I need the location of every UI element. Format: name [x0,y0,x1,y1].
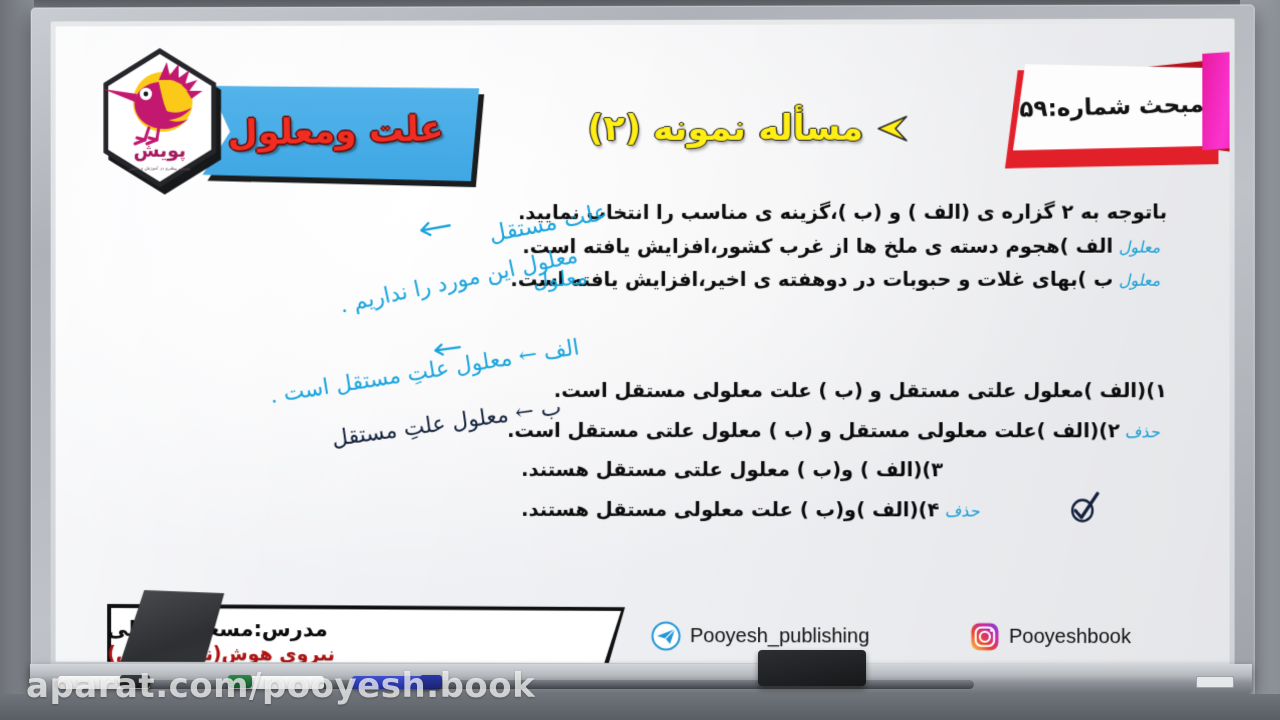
topic-number-ribbon: مبحث شماره:۵۹ [989,46,1230,177]
sample-problem-heading: مسأله نمونه (۲) [588,109,910,150]
logo-tagline: پویش، پیشرو در آموزش و دانش [97,167,222,172]
handwritten-note-1: علت مستقل [487,199,610,248]
option-1-text: (الف )معلول علتی مستقل و (ب ) علت معلولی… [554,379,1146,402]
whiteboard-frame: پویش پویش، پیشرو در آموزش و دانش علت ومع… [31,4,1255,697]
arrow-marker-icon [875,114,909,144]
logo-brand-word: پویش [97,140,222,162]
tray-eraser-block[interactable] [758,650,866,686]
contact-info-block: Pooyesh_publishing [651,613,1230,664]
handwritten-note-3: معلول [532,265,588,293]
instagram-handle: Pooyeshbook [1009,625,1131,648]
statement-b-handnote: معلول [1117,273,1162,289]
option-4-handnote: حذف [944,503,982,519]
sample-problem-text: مسأله نمونه (۲) [588,109,864,149]
tray-end-label [1196,676,1234,688]
contact-instagram[interactable]: Pooyeshbook [970,622,1230,653]
handwritten-notes: علت مستقل معلول این مورد را نداریم . معل… [133,193,601,523]
telegram-handle: Pooyesh_publishing [690,625,869,648]
pooyesh-logo: پویش پویش، پیشرو در آموزش و دانش [97,48,222,188]
lesson-title-banner: علت ومعلول [202,85,479,181]
aparat-watermark: aparat.com/pooyesh.book [26,666,535,706]
screenshot-scene: پویش پویش، پیشرو در آموزش و دانش علت ومع… [0,0,1280,720]
correct-answer-checkmark-icon [1068,491,1104,523]
statement-a-text: الف )هجوم دسته ی ملخ ها از غرب کشور،افزا… [522,234,1113,257]
wall-left-strip [0,0,34,720]
option-3-number: ۳) [922,458,943,481]
telegram-icon [651,621,681,651]
option-1-number: ۱) [1146,379,1167,402]
option-2-number: ۲) [1099,419,1120,442]
whiteboard-surface: پویش پویش، پیشرو در آموزش و دانش علت ومع… [56,24,1230,665]
instagram-icon [970,622,1000,652]
statement-a-handnote: معلول [1117,239,1162,255]
option-4-number: ۴) [918,498,939,521]
handwritten-note-5: ب ← معلول علتِ مستقل [330,395,563,452]
lesson-title-text: علت ومعلول [201,82,480,184]
contact-telegram[interactable]: Pooyesh_publishing [651,621,952,652]
option-2-handnote: حذف [1124,424,1163,440]
handwritten-arrow-icon [416,216,453,242]
topic-number-text: مبحث شماره:۵۹ [1012,61,1212,153]
